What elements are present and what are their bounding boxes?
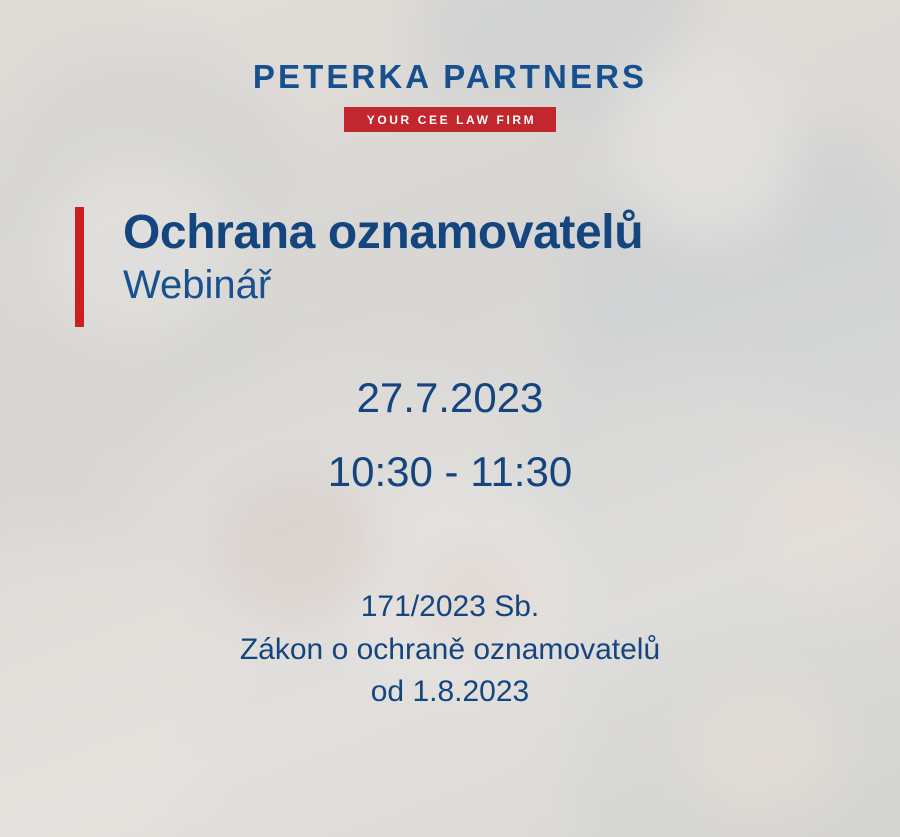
logo-wordmark: PETERKA PARTNERS	[0, 60, 900, 93]
event-time: 10:30 - 11:30	[0, 448, 900, 495]
page-title: Ochrana oznamovatelů	[123, 207, 643, 259]
brand-logo: PETERKA PARTNERS YOUR CEE LAW FIRM	[0, 60, 900, 132]
page-subtitle: Webinář	[123, 263, 643, 307]
event-date: 27.7.2023	[0, 374, 900, 421]
webinar-poster: PETERKA PARTNERS YOUR CEE LAW FIRM Ochra…	[0, 0, 900, 837]
legal-line-act-title: Zákon o ochraně oznamovatelů	[0, 629, 900, 672]
legal-line-effective-date: od 1.8.2023	[0, 671, 900, 714]
logo-tagline-badge: YOUR CEE LAW FIRM	[344, 107, 557, 132]
headline: Ochrana oznamovatelů Webinář	[75, 207, 643, 307]
legal-reference: 171/2023 Sb. Zákon o ochraně oznamovatel…	[0, 586, 900, 714]
accent-bar	[75, 207, 84, 327]
legal-line-act-number: 171/2023 Sb.	[0, 586, 900, 629]
schedule: 27.7.2023 10:30 - 11:30	[0, 374, 900, 495]
